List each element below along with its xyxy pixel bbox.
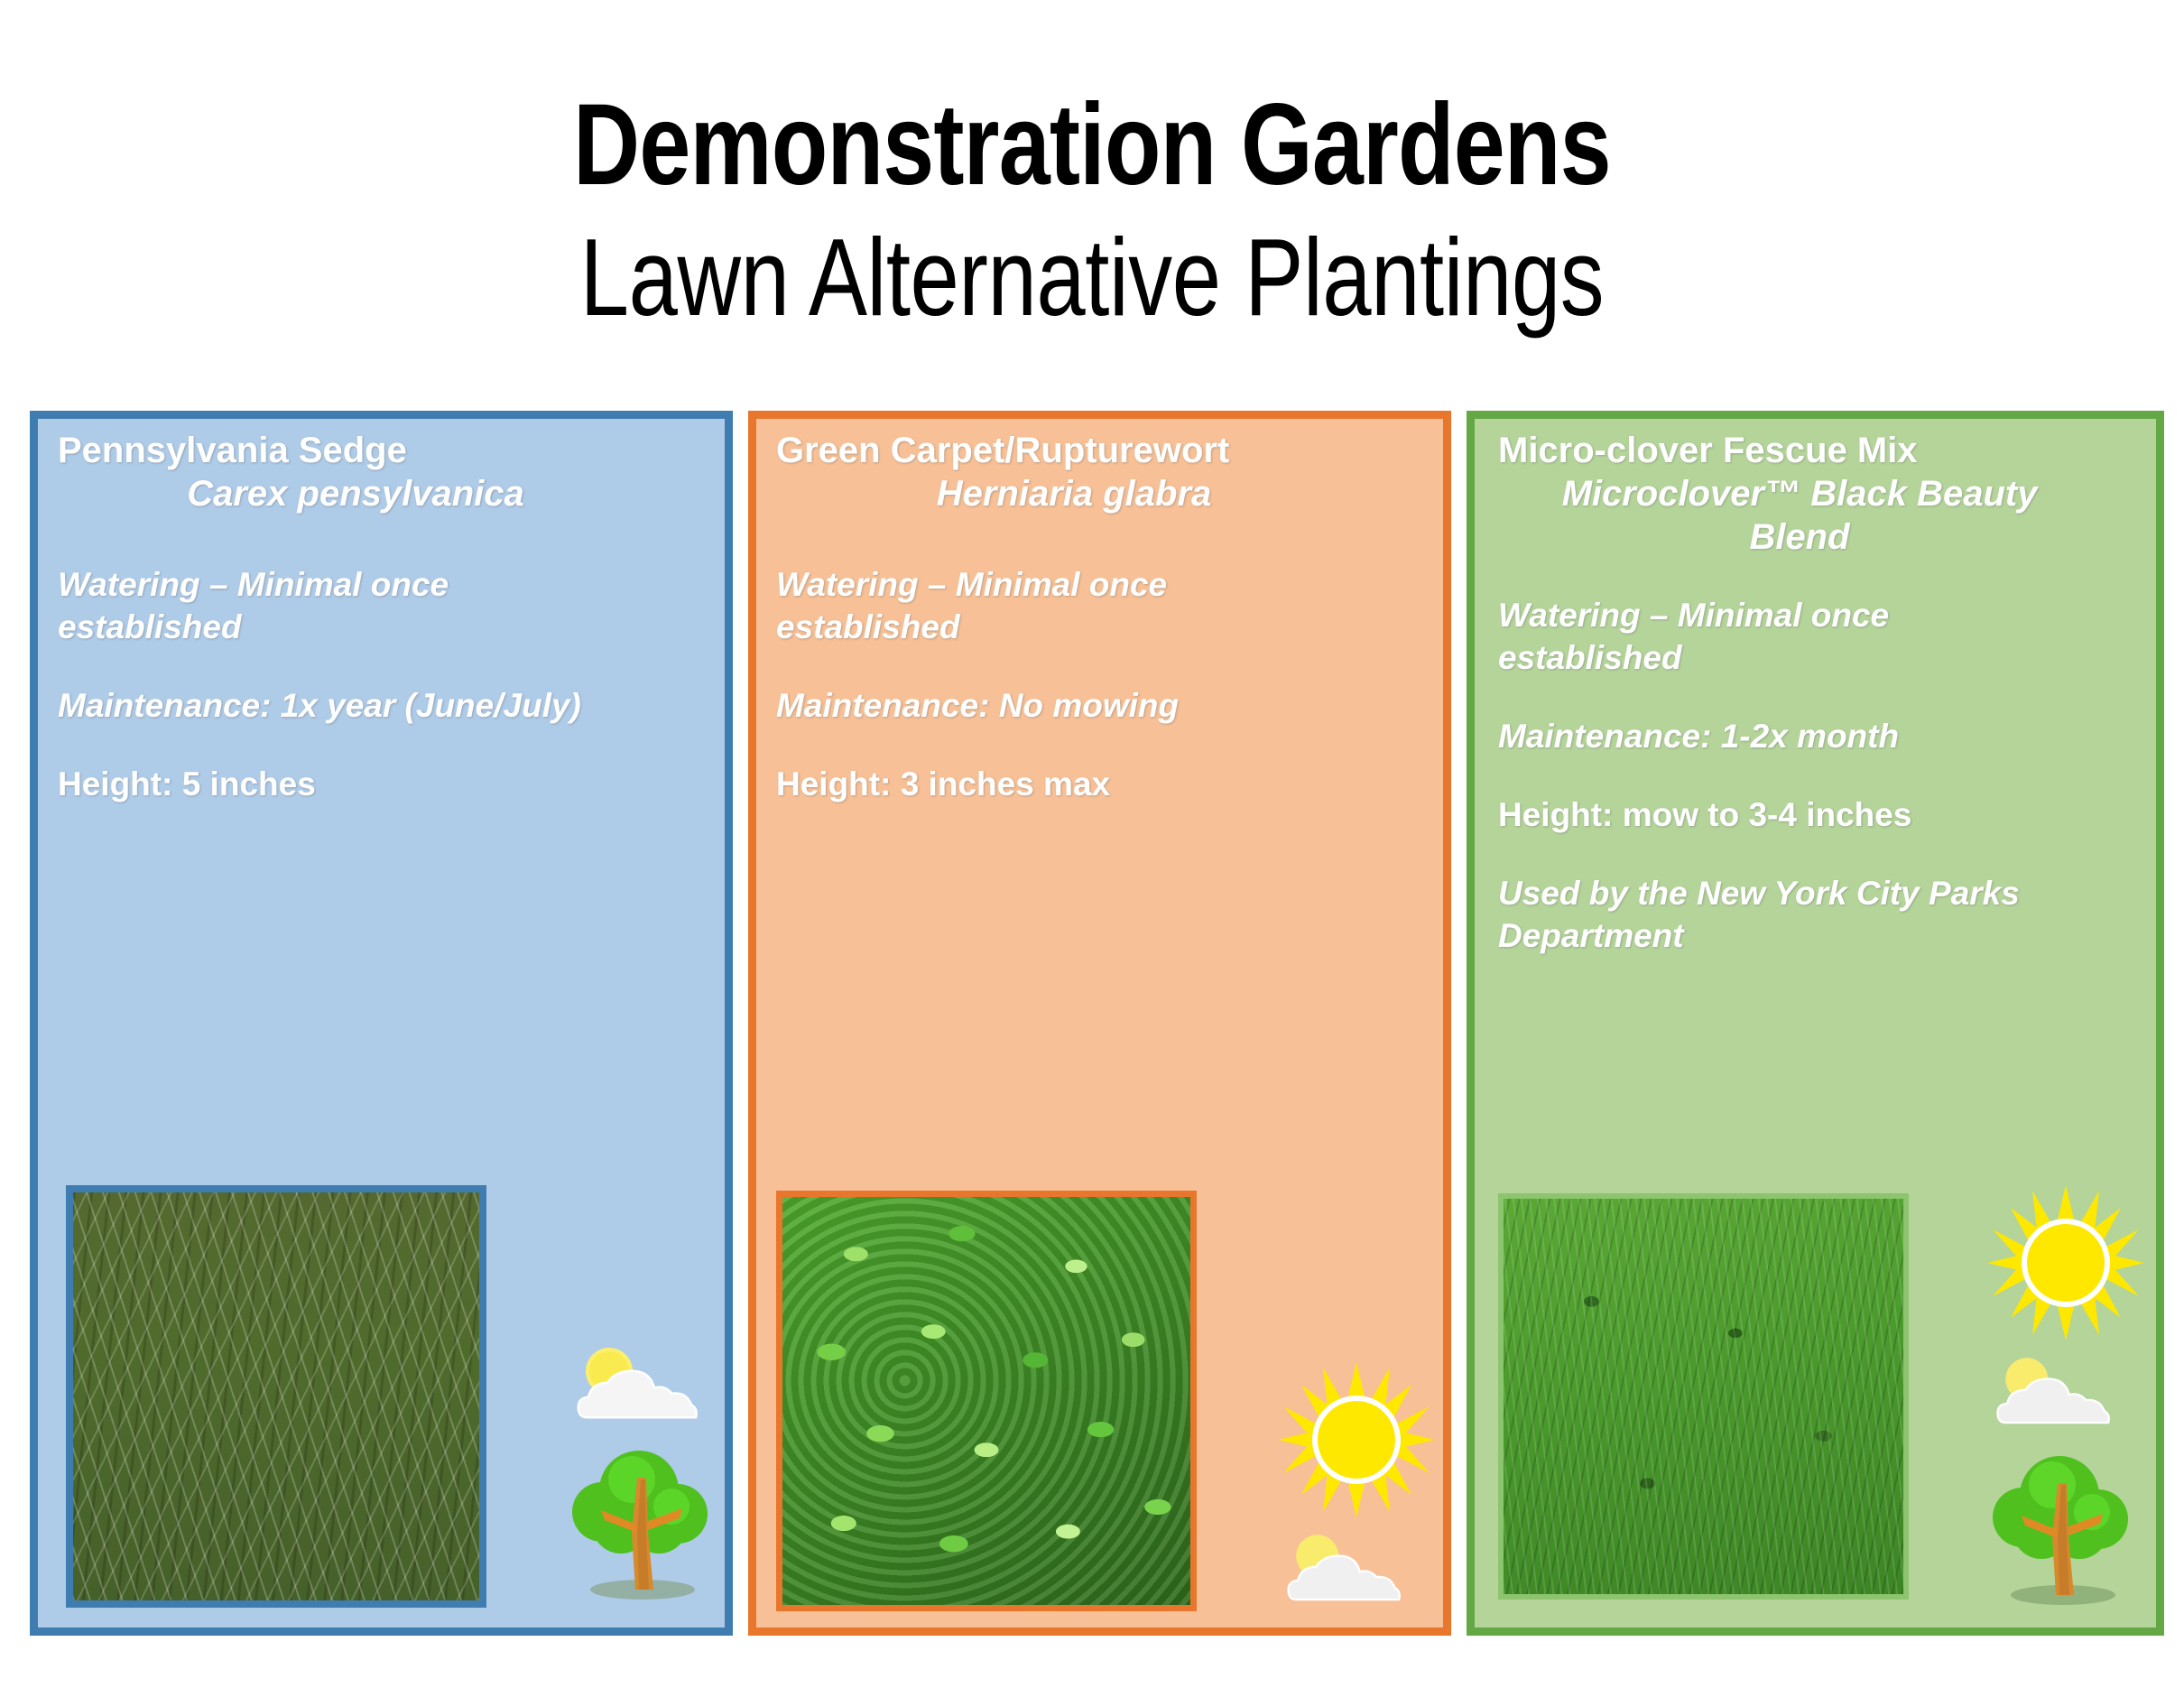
panel-2-spacer — [776, 515, 1336, 564]
plantings-panel-row: Pennsylvania Sedge Carex pensylvanica Wa… — [30, 411, 2164, 1636]
partly-cloudy-icon — [1271, 1525, 1415, 1611]
partly-cloudy-icon — [560, 1339, 713, 1429]
panel-3-maintenance: Maintenance: 1-2x month — [1498, 716, 2049, 758]
panel-3-common-name: Micro-clover Fescue Mix — [1498, 430, 2049, 472]
panel-3-height: Height: mow to 3-4 inches — [1498, 794, 2049, 837]
panel-3-spacer-3 — [1498, 758, 2049, 794]
panel-1-spacer-3 — [58, 728, 617, 764]
panel-3-spacer-4 — [1498, 837, 2049, 873]
panel-3-watering: Watering – Minimal once established — [1498, 595, 2049, 680]
panel-pennsylvania-sedge: Pennsylvania Sedge Carex pensylvanica Wa… — [30, 411, 733, 1636]
panel-2-spacer-2 — [776, 649, 1336, 685]
panel-3-note: Used by the New York City Parks Departme… — [1498, 873, 2049, 958]
panel-1-maintenance: Maintenance: 1x year (June/July) — [58, 685, 617, 728]
panel-1-spacer — [58, 515, 617, 564]
panel-2-common-name: Green Carpet/Rupturewort — [776, 430, 1336, 472]
panel-2-latin-name: Herniaria glabra — [776, 472, 1336, 515]
panel-2-height: Height: 3 inches max — [776, 764, 1336, 806]
panel-1-spacer-2 — [58, 649, 617, 685]
panel-1-icon-stack — [560, 1333, 713, 1602]
panel-2-text-block: Green Carpet/Rupturewort Herniaria glabr… — [776, 430, 1336, 806]
panel-2-icon-stack — [1271, 1359, 1442, 1611]
panel-2-maintenance: Maintenance: No mowing — [776, 685, 1336, 728]
panel-green-carpet-rupturewort: Green Carpet/Rupturewort Herniaria glabr… — [748, 411, 1451, 1636]
green-carpet-rupturewort-photo — [776, 1191, 1197, 1611]
micro-clover-fescue-mix-photo — [1498, 1193, 1909, 1600]
panel-2-spacer-3 — [776, 728, 1336, 764]
pennsylvania-sedge-photo — [66, 1185, 486, 1608]
page-title: Demonstration Gardens — [218, 87, 1966, 205]
panel-3-text-block: Micro-clover Fescue Mix Microclover™ Bla… — [1498, 430, 2049, 958]
sun-icon — [1980, 1182, 2152, 1344]
panel-3-spacer-2 — [1498, 680, 2049, 716]
panel-1-watering: Watering – Minimal once established — [58, 564, 617, 649]
tree-icon — [1980, 1436, 2138, 1608]
sun-icon — [1271, 1359, 1442, 1521]
page-header: Demonstration Gardens Lawn Alternative P… — [0, 0, 2184, 335]
partly-cloudy-icon — [1980, 1348, 2124, 1434]
panel-1-latin-name: Carex pensylvanica — [58, 472, 617, 515]
panel-1-text-block: Pennsylvania Sedge Carex pensylvanica Wa… — [58, 430, 617, 806]
panel-3-icon-stack — [1980, 1182, 2152, 1608]
panel-3-spacer — [1498, 559, 2049, 595]
panel-1-height: Height: 5 inches — [58, 764, 617, 806]
panel-3-latin-name: Microclover™ Black Beauty Blend — [1498, 472, 2049, 559]
page-subtitle: Lawn Alternative Plantings — [218, 219, 1966, 335]
panel-1-common-name: Pennsylvania Sedge — [58, 430, 617, 472]
panel-micro-clover-fescue-mix: Micro-clover Fescue Mix Microclover™ Bla… — [1467, 411, 2164, 1636]
panel-2-watering: Watering – Minimal once established — [776, 564, 1336, 649]
tree-icon — [560, 1431, 717, 1602]
